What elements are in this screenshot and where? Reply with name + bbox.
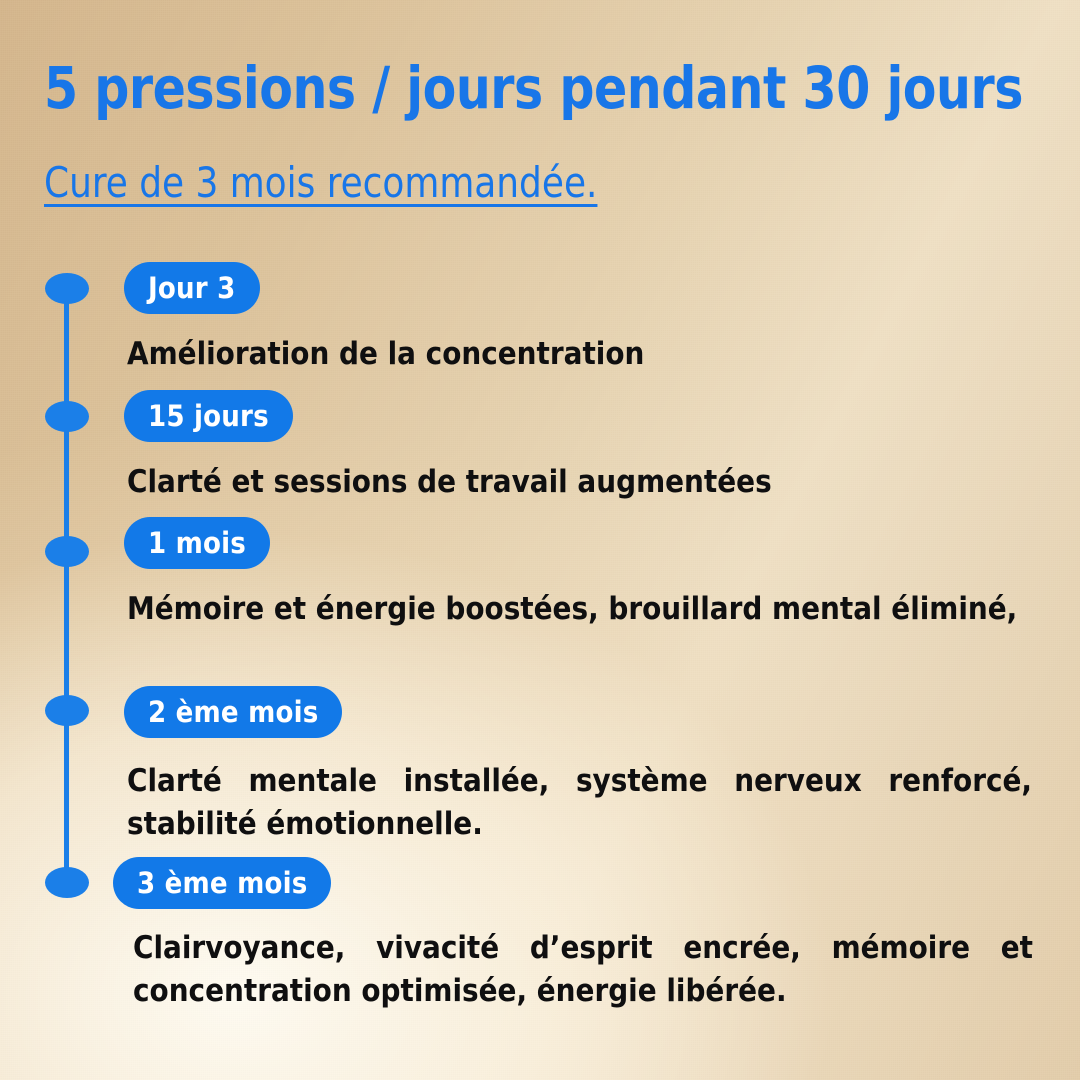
timeline-rail bbox=[64, 288, 69, 884]
timeline-dot-1 bbox=[45, 273, 89, 304]
timeline-dot-2 bbox=[45, 401, 89, 432]
page-subtitle: Cure de 3 mois recommandée. bbox=[44, 160, 597, 206]
page-title: 5 pressions / jours pendant 30 jours bbox=[44, 58, 984, 119]
timeline-description-1: Amélioration de la concentration bbox=[127, 333, 1032, 376]
timeline-badge-1-mois[interactable]: 1 mois bbox=[124, 517, 270, 569]
timeline-dot-3 bbox=[45, 536, 89, 567]
timeline-description-5: Clairvoyance, vivacité d’esprit encrée, … bbox=[133, 927, 1033, 1013]
timeline-badge-3-eme-mois[interactable]: 3 ème mois bbox=[113, 857, 331, 909]
timeline-badge-15-jours[interactable]: 15 jours bbox=[124, 390, 293, 442]
poster-content: 5 pressions / jours pendant 30 jours Cur… bbox=[0, 0, 1080, 1080]
timeline-description-3: Mémoire et énergie boostées, brouillard … bbox=[127, 588, 1029, 631]
poster-canvas: 5 pressions / jours pendant 30 jours Cur… bbox=[0, 0, 1080, 1080]
timeline-dot-5 bbox=[45, 867, 89, 898]
timeline-badge-jour-3[interactable]: Jour 3 bbox=[124, 262, 260, 314]
timeline-description-2: Clarté et sessions de travail augmentées bbox=[127, 461, 1032, 504]
timeline-description-4: Clarté mentale installée, système nerveu… bbox=[127, 760, 1032, 846]
timeline-dot-4 bbox=[45, 695, 89, 726]
timeline-badge-2-eme-mois[interactable]: 2 ème mois bbox=[124, 686, 342, 738]
